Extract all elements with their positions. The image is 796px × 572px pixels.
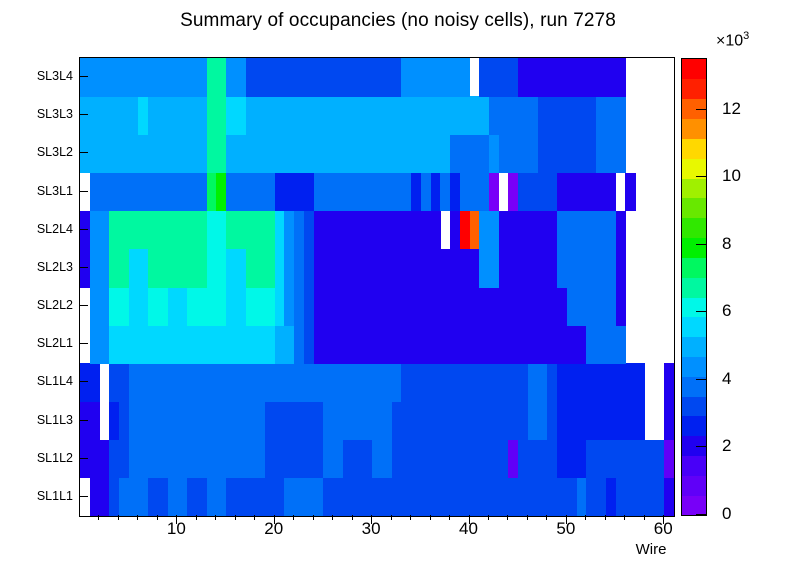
color-bar-band: [682, 416, 706, 436]
x-axis-tick-label: 30: [362, 519, 381, 539]
y-axis-tick: [79, 229, 88, 230]
heatmap-cell: [616, 58, 626, 97]
x-axis-tick: [585, 515, 586, 520]
y-axis-label: SL2L3: [37, 260, 73, 274]
heatmap-cell: [625, 173, 635, 212]
y-axis-label: SL3L1: [37, 184, 73, 198]
color-bar-band: [682, 218, 706, 238]
x-axis-tick: [157, 515, 158, 520]
color-bar-band: [682, 337, 706, 357]
color-bar-band: [682, 59, 706, 79]
color-bar-band: [682, 396, 706, 416]
y-axis-tick: [79, 191, 88, 192]
color-bar-tick: [696, 379, 706, 380]
x-axis-tick: [118, 515, 119, 520]
x-axis-tick: [410, 515, 411, 520]
heatmap-cells: [80, 58, 674, 516]
x-axis-tick: [352, 515, 353, 520]
x-axis-tick: [196, 515, 197, 520]
heatmap-cell: [616, 96, 626, 135]
chart-title: Summary of occupancies (no noisy cells),…: [0, 10, 796, 32]
y-axis-tick: [79, 458, 88, 459]
color-bar-band: [682, 456, 706, 476]
heatmap-cell: [664, 402, 674, 441]
y-axis-label: SL2L2: [37, 298, 73, 312]
x-axis-tick: [605, 515, 606, 520]
x-axis-tick: [644, 515, 645, 520]
heatmap-cell: [460, 58, 470, 97]
heatmap-cell: [664, 363, 674, 402]
y-axis-label: SL3L4: [37, 69, 73, 83]
color-bar-tick-label: 4: [722, 369, 731, 389]
heatmap-cell: [616, 211, 626, 250]
x-axis-tick-label: 10: [167, 519, 186, 539]
y-axis-label: SL2L4: [37, 222, 73, 236]
color-bar-band: [682, 297, 706, 317]
x-axis-tick: [527, 515, 528, 520]
color-bar-tick: [696, 446, 706, 447]
x-axis-tick: [215, 515, 216, 520]
color-bar-band: [682, 277, 706, 297]
color-bar-band: [682, 475, 706, 495]
x-axis-tick-label: 60: [654, 519, 673, 539]
y-axis-label: SL1L3: [37, 413, 73, 427]
y-axis-tick: [79, 496, 88, 497]
y-axis-label: SL1L4: [37, 374, 73, 388]
y-axis-label: SL1L1: [37, 489, 73, 503]
x-axis-tick: [449, 515, 450, 520]
color-bar-multiplier: ×103: [716, 30, 749, 50]
color-bar-tick: [696, 176, 706, 177]
x-axis-tick-label: 20: [264, 519, 283, 539]
x-axis-tick: [546, 515, 547, 520]
chart-canvas: Summary of occupancies (no noisy cells),…: [0, 0, 796, 572]
color-bar-band: [682, 138, 706, 158]
x-axis-tick: [313, 515, 314, 520]
color-bar-tick-label: 8: [722, 234, 731, 254]
color-bar-tick-label: 12: [722, 99, 741, 119]
color-bar-tick-label: 2: [722, 436, 731, 456]
y-axis-label: SL1L2: [37, 451, 73, 465]
y-axis-tick: [79, 305, 88, 306]
y-axis-tick: [79, 343, 88, 344]
x-axis-tick: [488, 515, 489, 520]
x-axis-tick: [137, 515, 138, 520]
y-axis-tick: [79, 267, 88, 268]
x-axis-tick: [430, 515, 431, 520]
heatmap-cell: [635, 363, 645, 402]
color-bar-band: [682, 317, 706, 337]
heatmap-cell: [635, 402, 645, 441]
heatmap-cell: [616, 287, 626, 326]
x-axis-tick-label: 50: [556, 519, 575, 539]
color-bar-tick: [696, 311, 706, 312]
y-axis-label: SL3L3: [37, 107, 73, 121]
color-bar-tick-label: 10: [722, 166, 741, 186]
heatmap-cell: [664, 440, 674, 479]
x-axis-tick: [254, 515, 255, 520]
x-axis-tick: [332, 515, 333, 520]
y-axis-tick: [79, 76, 88, 77]
x-axis-tick: [293, 515, 294, 520]
color-bar-tick-label: 6: [722, 301, 731, 321]
heatmap-cell: [616, 134, 626, 173]
color-bar-band: [682, 118, 706, 138]
color-bar-tick: [696, 514, 706, 515]
y-axis-labels: SL1L1SL1L2SL1L3SL1L4SL2L1SL2L2SL2L3SL2L4…: [0, 57, 73, 515]
color-bar-band: [682, 356, 706, 376]
heatmap-cell: [90, 402, 100, 441]
heatmap-cell: [489, 173, 499, 212]
y-axis-tick: [79, 114, 88, 115]
color-bar-band: [682, 495, 706, 515]
color-bar-tick: [696, 244, 706, 245]
color-bar-band: [682, 178, 706, 198]
x-axis-tick: [624, 515, 625, 520]
heatmap-cell: [616, 249, 626, 288]
color-bar-tick-label: 0: [722, 504, 731, 524]
color-bar-band: [682, 237, 706, 257]
color-bar-tick: [696, 109, 706, 110]
heatmap-cell: [616, 325, 626, 364]
heatmap-cell: [90, 363, 100, 402]
x-axis-tick: [235, 515, 236, 520]
y-axis-tick: [79, 420, 88, 421]
x-axis-tick: [98, 515, 99, 520]
color-bar-band: [682, 79, 706, 99]
plot-frame: [79, 57, 675, 517]
y-axis-label: SL3L2: [37, 145, 73, 159]
y-axis-label: SL2L1: [37, 336, 73, 350]
x-axis-tick-label: 40: [459, 519, 478, 539]
y-axis-tick: [79, 152, 88, 153]
heatmap-cell: [431, 211, 441, 250]
x-axis-title: Wire: [636, 541, 667, 558]
y-axis-tick: [79, 381, 88, 382]
color-bar-band: [682, 198, 706, 218]
x-axis-tick: [391, 515, 392, 520]
color-bar-band: [682, 257, 706, 277]
x-axis-tick: [507, 515, 508, 520]
heatmap-cell: [664, 478, 674, 516]
heatmap-cell: [606, 173, 616, 212]
